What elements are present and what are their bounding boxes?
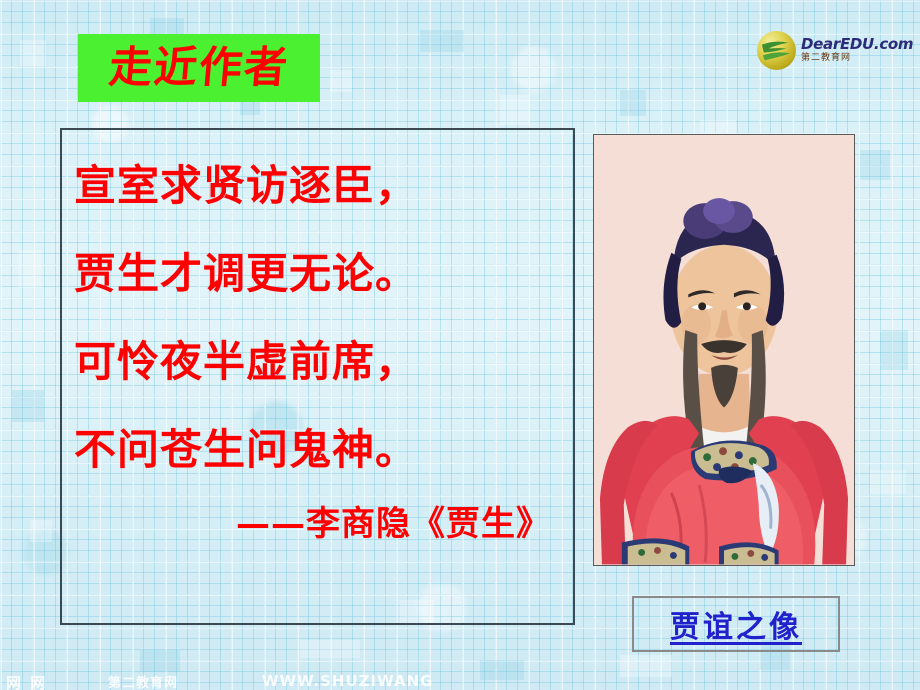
portrait-caption: 贾谊之像 <box>670 602 802 646</box>
dearedu-logo[interactable]: DearEDU.com 第二教育网 <box>757 29 907 71</box>
poem-line: 可怜夜半虚前席， <box>74 318 573 406</box>
logo-text: DearEDU.com 第二教育网 <box>801 37 913 63</box>
footer-text-middle: 第二教育网 <box>108 672 178 690</box>
logo-brand: DearEDU.com <box>801 37 913 52</box>
jia-yi-portrait <box>593 134 855 566</box>
logo-subtitle: 第二教育网 <box>801 54 913 63</box>
poem-attribution: ——李商隐《贾生》 <box>74 494 573 554</box>
slide-canvas: 走近作者 DearEDU.com 第二教育网 宣室求贤访逐臣， 贾生才调更无论。… <box>0 0 920 690</box>
poem-line: 贾生才调更无论。 <box>74 230 573 318</box>
footer-strip: 网 网 第二教育网 WWW.SHUZIWANG <box>0 668 920 690</box>
portrait-caption-box[interactable]: 贾谊之像 <box>632 596 840 652</box>
page-title: 走近作者 <box>107 47 291 90</box>
poem-box: 宣室求贤访逐臣， 贾生才调更无论。 可怜夜半虚前席， 不问苍生问鬼神。 ——李商… <box>60 128 575 625</box>
footer-text-left: 网 网 <box>6 672 47 690</box>
poem-line: 不问苍生问鬼神。 <box>74 406 573 494</box>
poem-line: 宣室求贤访逐臣， <box>74 142 573 230</box>
deardu-sphere-logo-icon <box>757 31 796 70</box>
footer-text-right: WWW.SHUZIWANG <box>262 672 433 690</box>
title-banner: 走近作者 <box>78 34 320 102</box>
